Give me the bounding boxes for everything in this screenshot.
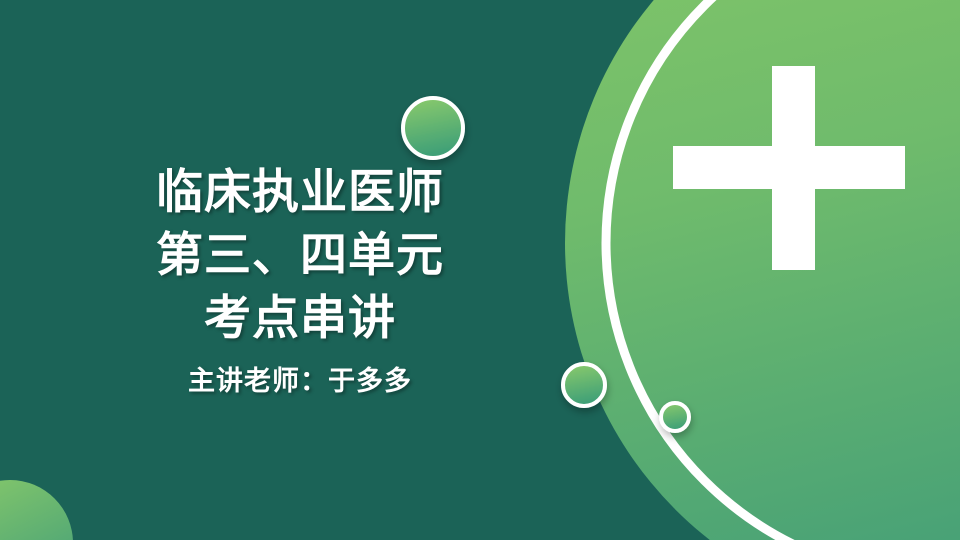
title-line-1: 临床执业医师 — [104, 160, 496, 223]
bubble-mid — [563, 364, 605, 406]
bubble-bottom-corner — [0, 480, 73, 540]
title-line-3: 考点串讲 — [104, 286, 496, 349]
bubble-top-left — [403, 98, 463, 158]
title-line-2: 第三、四单元 — [104, 223, 496, 286]
large-green-circle — [565, 0, 960, 540]
presentation-slide: 临床执业医师 第三、四单元 考点串讲 主讲老师：于多多 — [0, 0, 960, 540]
title-block: 临床执业医师 第三、四单元 考点串讲 主讲老师：于多多 — [104, 160, 496, 399]
presenter-subtitle: 主讲老师：于多多 — [104, 363, 496, 399]
bubble-small — [661, 403, 689, 431]
